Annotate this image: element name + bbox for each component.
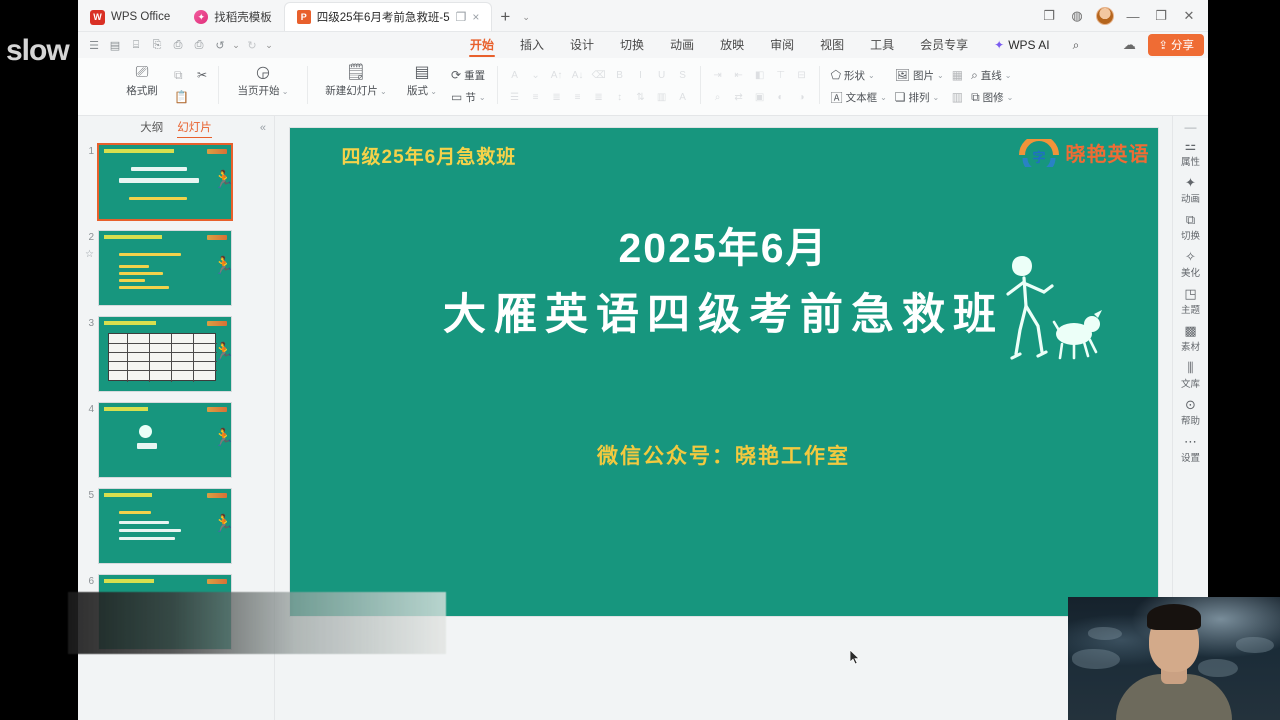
find-icon[interactable]: ⌕: [708, 87, 728, 107]
thumb-corner-title: [104, 235, 162, 239]
dock-item-settings[interactable]: ⋯ 设置: [1174, 431, 1208, 467]
ribbon-search-button[interactable]: ⌕: [1063, 33, 1090, 57]
tab-wps-ai-label: WPS AI: [1008, 33, 1049, 57]
globe-icon[interactable]: ◍: [1064, 4, 1090, 28]
ribbon-group-slides: 🗒 新建幻灯片 ⌄ ▤ 版式 ⌄ ⟳ 重置: [311, 60, 494, 114]
sparkle-icon: ✦: [194, 10, 208, 24]
thumb-logo: [207, 579, 227, 584]
layout-label: 版式 ⌄: [407, 83, 437, 98]
dock-label: 素材: [1181, 339, 1200, 353]
save-as-icon[interactable]: ⎘: [147, 35, 167, 55]
tab-insert[interactable]: 插入: [507, 33, 557, 57]
line-label: 直线: [981, 68, 1002, 83]
select-icon[interactable]: ▣: [750, 87, 770, 107]
line-button[interactable]: ⌕ 直线 ⌄: [967, 65, 1017, 85]
thumb-runner-icon: 🏃: [213, 339, 225, 365]
runner-with-dog-illustration: [986, 248, 1106, 373]
quick-access-toolbar: ☰ ▤ ⌸ ⎘ ⎙ ⎙ ↺ ⌄ ↻ ⌄: [78, 35, 275, 55]
list-item[interactable]: 3: [78, 316, 274, 402]
tab-tools[interactable]: 工具: [857, 33, 907, 57]
thumb-logo: [207, 493, 227, 498]
slide-thumbnail-5[interactable]: 🏃: [98, 488, 232, 564]
image-edit-icon: ⧉: [971, 90, 980, 105]
template-store-label: 找稻壳模板: [214, 9, 272, 25]
image-edit-button[interactable]: ⧉ 图修 ⌄: [967, 87, 1017, 107]
maximize-icon[interactable]: ❐: [1148, 4, 1174, 28]
slide-number: 1: [88, 146, 94, 157]
undo-caret-icon[interactable]: ⌄: [231, 35, 241, 55]
minimize-icon[interactable]: —: [1120, 4, 1146, 28]
textbox-button[interactable]: 🄰 文本框 ⌄: [827, 87, 891, 107]
copy-icon: ⧉: [174, 68, 183, 83]
ribbon-group-drawing: ⬠ 形状 ⌄ 🄰 文本框 ⌄ 🖼 图片 ⌄: [823, 60, 1022, 114]
save-icon[interactable]: ⌸: [126, 35, 146, 55]
document-tab-label: 四级25年6月考前急救班-5: [317, 9, 450, 25]
layout-button[interactable]: ▤ 版式 ⌄: [397, 60, 447, 98]
line-spacing-icon[interactable]: ↕: [610, 87, 630, 107]
thumb-corner-title: [104, 149, 174, 153]
thumb-logo: [207, 235, 227, 240]
clear-format-icon[interactable]: ⌫: [589, 65, 609, 85]
tab-transition[interactable]: 切换: [607, 33, 657, 57]
outline-color-icon[interactable]: ◑: [792, 87, 812, 107]
webcam-person: [1115, 612, 1233, 720]
dock-label: 主题: [1181, 302, 1200, 316]
ribbon-toolbar: ⎚ 格式刷 ⧉ 📋 ✂: [78, 58, 1208, 116]
slide-corner-title: 四级25年6月急救班: [342, 142, 517, 169]
thumb-circle: [139, 425, 152, 438]
numbering-icon[interactable]: ≡: [526, 87, 546, 107]
print-preview-icon[interactable]: ⎙: [189, 35, 209, 55]
dock-collapse-icon[interactable]: —: [1185, 120, 1197, 134]
reset-button[interactable]: ⟳ 重置: [447, 65, 490, 85]
thumb-corner-title: [104, 407, 148, 411]
arrange-icon: ❏: [895, 90, 906, 104]
template-icon[interactable]: ▤: [105, 35, 125, 55]
start-from-current-label: 当页开始 ⌄: [238, 83, 289, 98]
arrange-label: 排列: [909, 90, 930, 105]
slide-number: 4: [88, 404, 94, 415]
ribbon-tab-strip: ☰ ▤ ⌸ ⎘ ⎙ ⎙ ↺ ⌄ ↻ ⌄ 开始 插入 设计 切换 动画 放映 审阅…: [78, 32, 1208, 58]
dock-label: 动画: [1181, 191, 1200, 205]
layout-icon: ▤: [414, 64, 429, 81]
list-item[interactable]: 4 🏃: [78, 402, 274, 488]
section-button[interactable]: ▭ 节 ⌄: [447, 87, 490, 107]
window-controls: ❐ ◍ — ❐ ✕: [1036, 4, 1202, 28]
new-slide-icon: 🗒: [346, 64, 366, 81]
table-button[interactable]: ▦: [948, 65, 967, 85]
title-bar: W WPS Office ✦ 找稻壳模板 P 四级25年6月考前急救班-5 ❐ …: [78, 0, 1208, 32]
dock-item-animation[interactable]: ✦ 动画: [1174, 172, 1208, 208]
dock-label: 切换: [1181, 228, 1200, 242]
slides-tab[interactable]: 幻灯片: [177, 119, 212, 138]
thumb-runner-icon: 🏃: [213, 253, 225, 279]
thumb-table: [108, 333, 216, 381]
reset-icon: ⟳: [451, 68, 461, 82]
chart-icon: ▥: [952, 90, 963, 104]
undo-icon[interactable]: ↺: [210, 35, 230, 55]
logo-mark-icon: 字: [1016, 139, 1062, 167]
chevron-down-icon: ⌄: [522, 12, 530, 23]
play-clock-icon: ◶: [256, 64, 270, 81]
align-top-icon[interactable]: ⊤: [771, 65, 791, 85]
dock-item-theme[interactable]: ◳ 主题: [1174, 283, 1208, 319]
format-painter-label: 格式刷: [126, 83, 158, 98]
dock-label: 美化: [1181, 265, 1200, 279]
start-from-current-button[interactable]: ◶ 当页开始 ⌄: [226, 60, 300, 98]
left-gutter: slow: [0, 0, 78, 720]
image-edit-label: 图修: [983, 90, 1004, 105]
new-slide-label: 新建幻灯片 ⌄: [325, 83, 386, 98]
dock-item-properties[interactable]: ⚍ 属性: [1174, 135, 1208, 171]
arrange-button[interactable]: ❏ 排列 ⌄: [891, 87, 948, 107]
wps-logo-icon: W: [90, 10, 105, 25]
grow-font-icon[interactable]: A↑: [547, 65, 567, 85]
thumb-corner-title: [104, 493, 152, 497]
picture-button[interactable]: 🖼 图片 ⌄: [891, 65, 948, 85]
shape-label: 形状: [844, 68, 865, 83]
new-slide-button[interactable]: 🗒 新建幻灯片 ⌄: [315, 60, 397, 98]
slide-thumbnail-2[interactable]: 🏃: [98, 230, 232, 306]
paste-button[interactable]: 📋: [170, 87, 193, 107]
animation-icon: ✦: [1185, 176, 1196, 190]
text-direction-icon[interactable]: ⇅: [631, 87, 651, 107]
dock-label: 帮助: [1181, 413, 1200, 427]
settings-icon: ⋯: [1184, 435, 1197, 449]
replace-icon[interactable]: ⇄: [729, 87, 749, 107]
shape-button[interactable]: ⬠ 形状 ⌄: [827, 65, 891, 85]
search-icon: ⌕: [1073, 38, 1080, 52]
new-tab-button[interactable]: +: [492, 3, 518, 31]
close-tab-icon[interactable]: ×: [472, 10, 479, 24]
transition-icon: ⧉: [1186, 213, 1195, 227]
properties-icon: ⚍: [1185, 139, 1197, 153]
plus-icon: +: [496, 7, 514, 27]
ribbon-group-clipboard: ⎚ 格式刷 ⧉ 📋 ✂: [110, 60, 215, 114]
text-effect-icon[interactable]: A: [673, 87, 693, 107]
list-item[interactable]: 1 🏃: [78, 144, 274, 230]
wps-office-label: WPS Office: [111, 11, 170, 23]
list-item[interactable]: 5 🏃: [78, 488, 274, 574]
slide-number: 2: [88, 232, 94, 243]
line-search-icon: ⌕: [971, 68, 978, 83]
list-item[interactable]: 2 ☆ 🏃: [78, 230, 274, 316]
tab-home[interactable]: 开始: [457, 33, 507, 57]
font-family-icon[interactable]: A: [505, 65, 525, 85]
ai-sparkle-icon: ✦: [994, 33, 1004, 57]
underline-icon[interactable]: U: [652, 65, 672, 85]
beautify-icon: ✧: [1185, 250, 1196, 264]
tab-review[interactable]: 审阅: [757, 33, 807, 57]
template-store-tab[interactable]: ✦ 找稻壳模板: [182, 3, 284, 31]
panel-icon[interactable]: ❐: [1036, 4, 1062, 28]
dock-label: 属性: [1181, 154, 1200, 168]
tab-list-menu[interactable]: ⌄: [518, 3, 534, 31]
dock-label: 设置: [1181, 450, 1200, 464]
library-icon: ⫼: [1188, 361, 1194, 375]
format-painter-icon: ⎚: [136, 64, 149, 81]
picture-label: 图片: [913, 68, 934, 83]
cloud-icon[interactable]: ☁: [1116, 33, 1142, 57]
chevron-left-icon[interactable]: «: [260, 122, 266, 134]
copy-button[interactable]: ⧉: [170, 65, 193, 85]
ribbon-right-actions: ☁ ⇪ 分享: [1116, 33, 1204, 57]
ribbon-tabs: 开始 插入 设计 切换 动画 放映 审阅 视图 工具 会员专享 ✦ WPS AI…: [457, 33, 1089, 57]
tab-member[interactable]: 会员专享: [907, 33, 981, 57]
italic-icon[interactable]: I: [631, 65, 651, 85]
slow-watermark: slow: [6, 34, 69, 68]
cut-button[interactable]: ✂: [193, 65, 211, 85]
slide-number: 3: [88, 318, 94, 329]
restore-tab-icon[interactable]: ❐: [456, 10, 467, 24]
decrease-indent-icon[interactable]: ⇤: [729, 65, 749, 85]
redo-icon: ↻: [242, 35, 262, 55]
qat-more-icon[interactable]: ⌄: [263, 35, 275, 55]
ribbon-group-font: A ⌄ A↑ A↓ ⌫ B I U S ☰ ≡ ≣ ≡: [501, 60, 697, 114]
reset-label: 重置: [464, 68, 485, 83]
scissors-icon: ✂: [197, 68, 207, 82]
align-right-icon[interactable]: ≣: [589, 87, 609, 107]
ribbon-group-start: ◶ 当页开始 ⌄: [222, 60, 304, 114]
current-slide[interactable]: 四级25年6月急救班 字 晓艳英语 2025年6月 大雁英语四级考前急救班 微信…: [290, 128, 1158, 616]
tab-slideshow[interactable]: 放映: [707, 33, 757, 57]
slide-thumbnail-1[interactable]: 🏃: [98, 144, 232, 220]
thumb-runner-icon: 🏃: [213, 167, 225, 193]
align-middle-icon[interactable]: ⊟: [792, 65, 812, 85]
slide-number: 6: [88, 576, 94, 587]
close-icon[interactable]: ✕: [1176, 4, 1202, 28]
svg-text:字: 字: [1032, 150, 1045, 165]
tab-design[interactable]: 设计: [557, 33, 607, 57]
thumb-runner-icon: 🏃: [213, 425, 225, 451]
section-label: 节: [465, 90, 476, 105]
thumbnail-panel-header: 大纲 幻灯片 «: [78, 116, 274, 140]
wps-office-home-tab[interactable]: W WPS Office: [78, 3, 182, 31]
section-icon: ▭: [451, 90, 462, 104]
thumb-corner-title: [104, 321, 156, 325]
dock-item-material[interactable]: ▩ 素材: [1174, 320, 1208, 356]
font-size-icon[interactable]: ⌄: [526, 65, 546, 85]
screenshot-root: slow W WPS Office ✦ 找稻壳模板 P 四级25年6月考前急救班…: [0, 0, 1280, 720]
dock-item-transition[interactable]: ⧉ 切换: [1174, 209, 1208, 245]
columns-icon[interactable]: ▥: [652, 87, 672, 107]
table-icon: ▦: [952, 68, 963, 82]
theme-icon: ◳: [1184, 287, 1196, 301]
textbox-label: 文本框: [846, 90, 878, 105]
align-center-icon[interactable]: ≡: [568, 87, 588, 107]
screen-recording-blur-overlay: [68, 592, 446, 654]
menu-icon[interactable]: ☰: [84, 35, 104, 55]
animation-star-icon: ☆: [85, 249, 94, 260]
ribbon-group-paragraph: ⇥ ⇤ ◧ ⊤ ⊟ ⌕ ⇄ ▣ ◐ ◑: [704, 60, 816, 114]
slide-subtitle: 微信公众号：晓艳工作室: [290, 440, 1158, 470]
help-icon: ⊙: [1185, 398, 1196, 412]
webcam-overlay: [1068, 597, 1280, 720]
avatar[interactable]: [1092, 4, 1118, 28]
format-painter-button[interactable]: ⎚ 格式刷: [114, 60, 170, 98]
print-icon[interactable]: ⎙: [168, 35, 188, 55]
dock-item-beautify[interactable]: ✧ 美化: [1174, 246, 1208, 282]
dock-item-help[interactable]: ⊙ 帮助: [1174, 394, 1208, 430]
shrink-font-icon[interactable]: A↓: [568, 65, 588, 85]
slide-number: 5: [88, 490, 94, 501]
share-label: 分享: [1171, 37, 1194, 53]
slide-logo-text: 晓艳英语: [1066, 138, 1150, 167]
smartart-icon[interactable]: ◧: [750, 65, 770, 85]
align-left-icon[interactable]: ≣: [547, 87, 567, 107]
thumb-corner-title: [104, 579, 154, 583]
textbox-icon: 🄰: [831, 89, 843, 106]
thumb-logo: [207, 321, 227, 326]
tab-wps-ai[interactable]: ✦ WPS AI: [981, 33, 1062, 57]
document-tab[interactable]: P 四级25年6月考前急救班-5 ❐ ×: [284, 2, 493, 31]
slide-thumbnail-3[interactable]: 🏃: [98, 316, 232, 392]
slide-logo: 字 晓艳英语: [1016, 138, 1150, 167]
fill-color-icon[interactable]: ◐: [771, 87, 791, 107]
strikethrough-icon[interactable]: S: [673, 65, 693, 85]
increase-indent-icon[interactable]: ⇥: [708, 65, 728, 85]
tab-animation[interactable]: 动画: [657, 33, 707, 57]
shape-icon: ⬠: [831, 68, 841, 82]
thumb-logo: [207, 407, 227, 412]
dock-item-library[interactable]: ⫼ 文库: [1174, 357, 1208, 393]
thumb-logo: [207, 149, 227, 154]
share-button[interactable]: ⇪ 分享: [1148, 34, 1204, 56]
tab-view[interactable]: 视图: [807, 33, 857, 57]
material-icon: ▩: [1184, 324, 1196, 338]
slide-thumbnail-4[interactable]: 🏃: [98, 402, 232, 478]
thumb-runner-icon: 🏃: [213, 511, 225, 537]
bold-icon[interactable]: B: [610, 65, 630, 85]
picture-icon: 🖼: [895, 68, 910, 82]
paste-icon: 📋: [174, 90, 189, 104]
chart-button[interactable]: ▥: [948, 87, 967, 107]
bullets-icon[interactable]: ☰: [505, 87, 525, 107]
dock-label: 文库: [1181, 376, 1200, 390]
outline-tab[interactable]: 大纲: [140, 119, 163, 137]
share-icon: ⇪: [1158, 38, 1168, 52]
powerpoint-file-icon: P: [297, 10, 311, 24]
